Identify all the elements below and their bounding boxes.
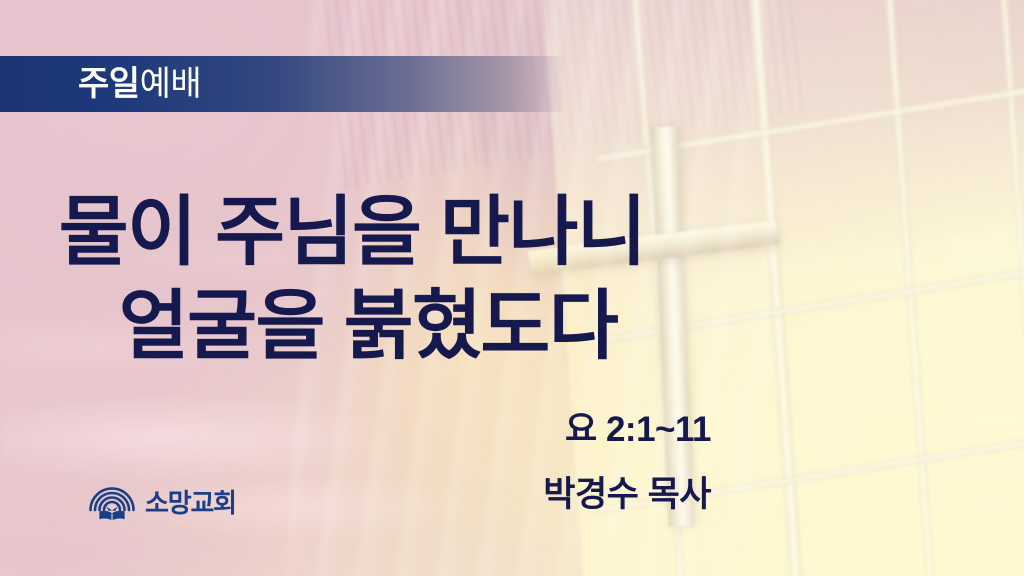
church-logo: 소망교회 (88, 485, 236, 521)
church-arcs-book-icon (88, 485, 136, 521)
banner-label-light: 예배 (140, 65, 202, 103)
banner-label: 주일예배 (78, 67, 201, 101)
sermon-meta: 요 2:1~11 박경수 목사 (311, 412, 711, 514)
sermon-title-line-1: 물이 주님을 만나니 (0, 186, 712, 280)
sermon-title-slide: 주일예배 물이 주님을 만나니 얼굴을 붉혔도다 요 2:1~11 박경수 목사… (0, 0, 1024, 576)
sermon-title-line-2: 얼굴을 붉혔도다 (0, 280, 712, 374)
scripture-reference: 요 2:1~11 (311, 412, 711, 449)
banner-label-strong: 주일 (78, 65, 140, 103)
service-category-banner: 주일예배 (0, 56, 566, 112)
preacher-name: 박경수 목사 (311, 477, 711, 514)
church-name: 소망교회 (145, 490, 236, 516)
sermon-title: 물이 주님을 만나니 얼굴을 붉혔도다 (0, 186, 712, 374)
